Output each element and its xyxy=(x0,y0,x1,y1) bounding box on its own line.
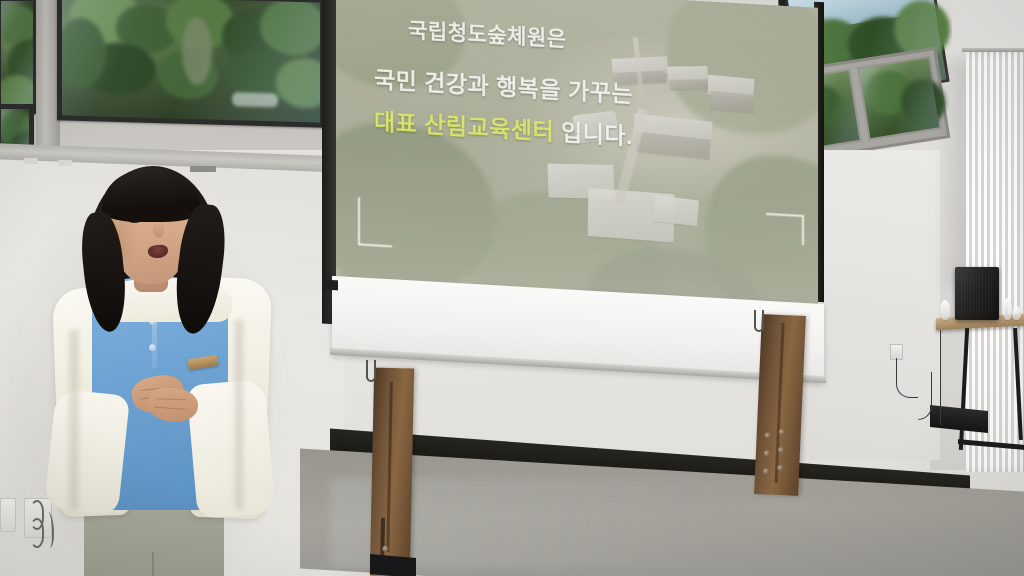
left-small-window xyxy=(0,0,38,114)
post-foot-left xyxy=(370,554,416,576)
projector-screen: 국립청도숲체원은 국민 건강과 행복을 가꾸는 대표 산림교육센터 입니다. xyxy=(322,0,828,390)
loudspeaker xyxy=(955,267,999,320)
polo-button xyxy=(149,344,156,351)
window-glass xyxy=(62,0,320,123)
speaker-cable xyxy=(940,330,944,426)
screen-hook-left xyxy=(366,360,376,382)
pants-seam xyxy=(152,552,154,576)
power-cable xyxy=(918,372,932,420)
glass-item xyxy=(1012,306,1021,320)
corner-bracket-left-icon xyxy=(358,197,392,247)
slide-trailing-text: 입니다. xyxy=(561,119,633,149)
photo-scene: 국립청도숲체원은 국민 건강과 행복을 가꾸는 대표 산림교육센터 입니다. xyxy=(0,0,1024,576)
slide-line-2: 국민 건강과 행복을 가꾸는 xyxy=(374,60,633,109)
window-glass xyxy=(1,1,33,109)
screen-surface: 국립청도숲체원은 국민 건강과 행복을 가꾸는 대표 산림교육센터 입니다. xyxy=(336,0,818,310)
presenter xyxy=(36,160,276,576)
glass-item xyxy=(1003,298,1012,320)
left-wide-window xyxy=(57,0,325,128)
speaker-grille xyxy=(961,273,993,314)
window-pane-right xyxy=(857,56,942,141)
wooden-support-post-right xyxy=(754,314,806,496)
slide-line-3: 대표 산림교육센터 입니다. xyxy=(374,102,633,151)
glass-item xyxy=(940,300,950,320)
presenter-nose xyxy=(153,222,164,238)
jacket-sleeve-right xyxy=(186,379,275,519)
screen-hook-right xyxy=(754,310,764,332)
slide-line-1: 국립청도숲체원은 xyxy=(408,14,567,53)
presenter-hair-front xyxy=(102,168,200,222)
wooden-support-post-left xyxy=(370,368,414,576)
corner-bracket-right-icon xyxy=(766,213,804,245)
screen-end-cap xyxy=(324,280,338,291)
slide-highlight-text: 대표 산림교육센터 xyxy=(374,108,554,144)
jacket-fold xyxy=(232,320,246,510)
jacket-sleeve-left xyxy=(44,388,130,515)
power-cable xyxy=(896,358,918,398)
jacket-fold xyxy=(66,330,82,510)
slide-text-block: 국립청도숲체원은 국민 건강과 행복을 가꾸는 대표 산림교육센터 입니다. xyxy=(336,0,818,310)
floor-sheen xyxy=(330,478,1020,568)
